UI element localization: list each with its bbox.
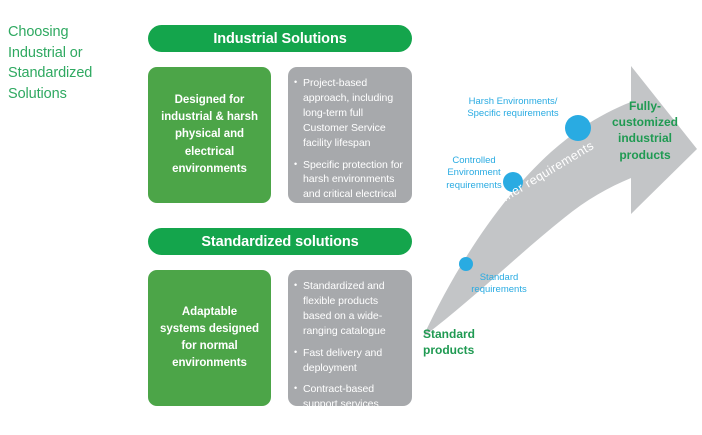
bullet-list-industrial: Project-based approach, including long-t… <box>294 76 404 217</box>
milestone-dot-standard <box>459 257 473 271</box>
list-item: Standardized and flexible products based… <box>294 279 404 339</box>
list-item: Project-based approach, including long-t… <box>294 76 404 151</box>
section-header-standardized: Standardized solutions <box>148 228 412 255</box>
section-header-industrial: Industrial Solutions <box>148 25 412 52</box>
statement-box-standardized: Adaptable systems designed for normal en… <box>148 270 271 406</box>
bullet-list-standardized: Standardized and flexible products based… <box>294 279 404 412</box>
arrow-start-label: Standard products <box>423 326 515 358</box>
list-item: Contract-based support services <box>294 382 404 412</box>
list-item: Specific protection for harsh environmen… <box>294 158 404 218</box>
slide-canvas: Choosing Industrial or Standardized Solu… <box>0 0 702 435</box>
arrow-end-label: Fully-customized industrial products <box>602 98 688 163</box>
milestone-label-standard: Standard requirements <box>459 272 539 297</box>
bullet-box-industrial: Project-based approach, including long-t… <box>288 67 412 203</box>
milestone-label-harsh: Harsh Environments/ Specific requirement… <box>452 96 574 121</box>
list-item: Fast delivery and deployment <box>294 346 404 376</box>
page-title: Choosing Industrial or Standardized Solu… <box>8 22 128 104</box>
statement-box-industrial: Designed for industrial & harsh physical… <box>148 67 271 203</box>
bullet-box-standardized: Standardized and flexible products based… <box>288 270 412 406</box>
